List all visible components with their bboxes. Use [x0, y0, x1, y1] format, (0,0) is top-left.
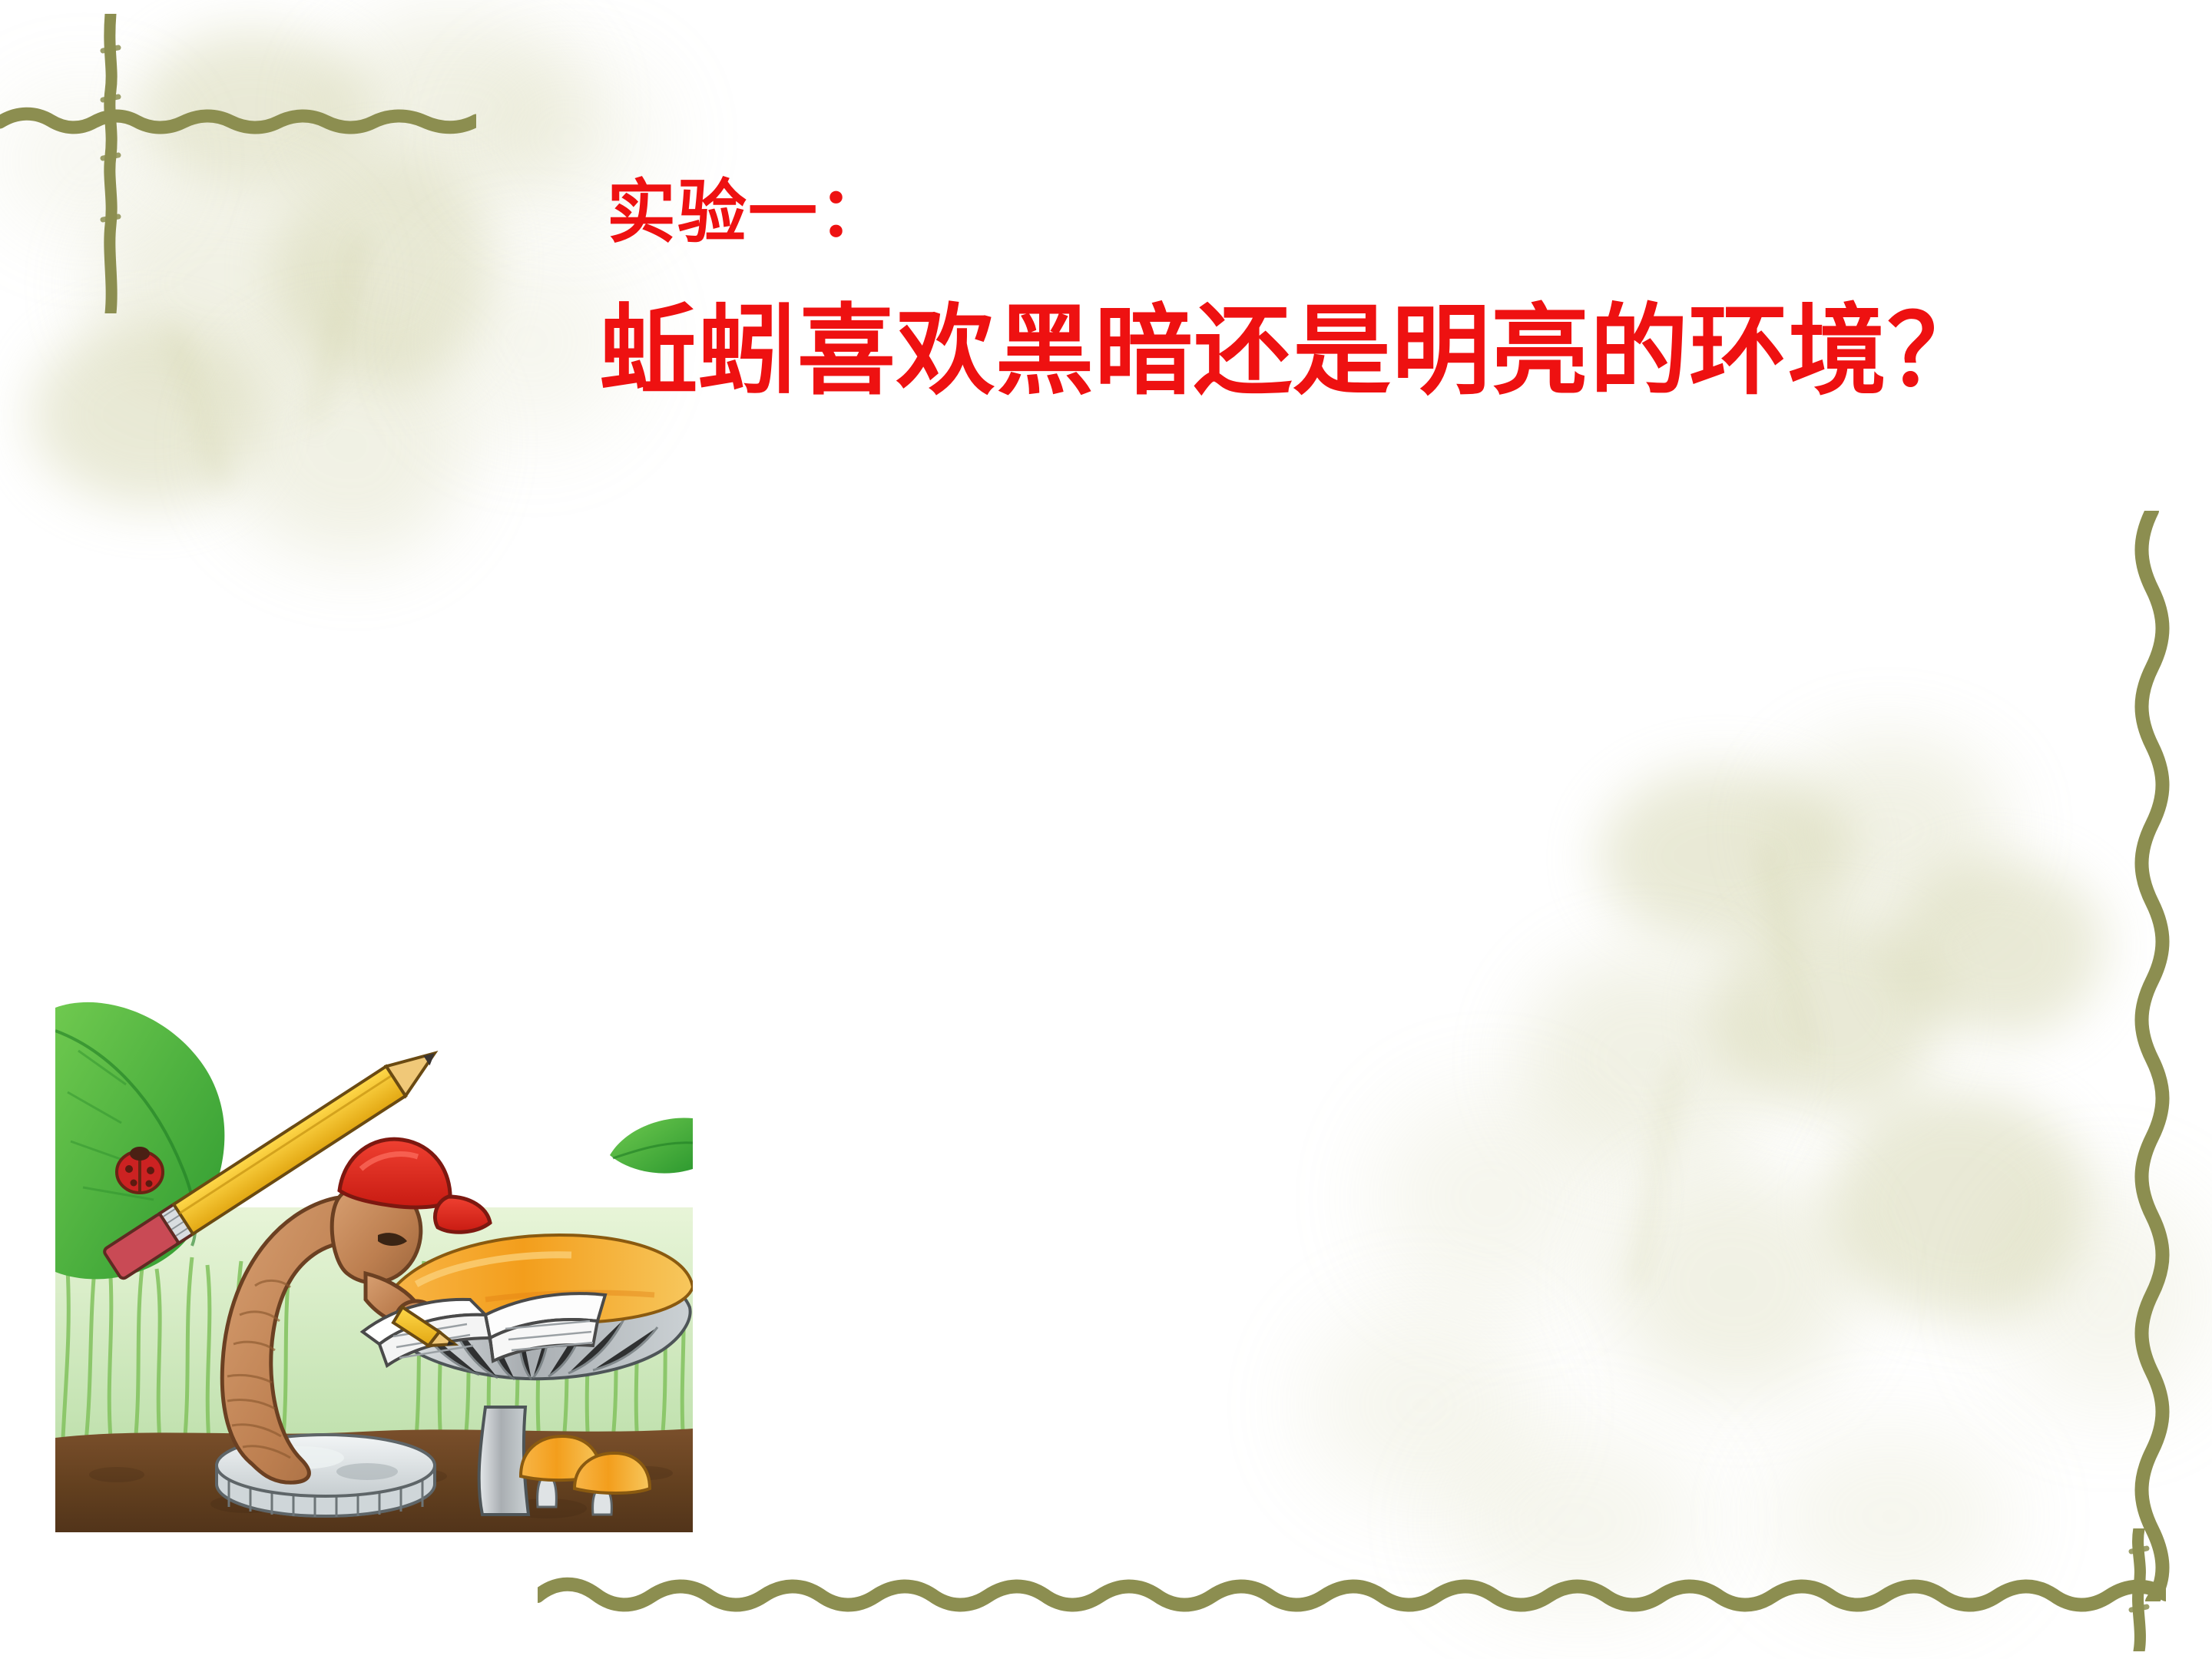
watermark-leaf	[1306, 1306, 1536, 1505]
watermark-stem	[306, 232, 366, 429]
watermark-stem	[1631, 1061, 1682, 1290]
slide-title-block: 实验一： 蚯蚓喜欢黑暗还是明亮的环境？	[607, 177, 2066, 403]
watermark-leaf	[31, 323, 261, 507]
watermark-leaf	[1598, 768, 1851, 945]
top-vine-border	[0, 104, 476, 139]
experiment-question: 蚯蚓喜欢黑暗还是明亮的环境？	[599, 300, 2066, 403]
watermark-leaf	[1997, 1183, 2212, 1413]
watermark-leaf	[1605, 1167, 1859, 1398]
watermark-leaf	[1774, 737, 2005, 922]
watermark-leaf	[1521, 952, 1767, 1167]
watermark-leaf	[1889, 860, 2104, 1037]
watermark-leaf	[1828, 1091, 2089, 1321]
experiment-heading: 实验一：	[607, 177, 2066, 250]
watermark-stem	[166, 325, 228, 489]
bottom-right-bamboo-stick	[2121, 1528, 2157, 1651]
watermark-leaf	[1713, 914, 1943, 1114]
earthworm-illustration	[55, 977, 693, 1532]
presentation-slide: 实验一： 蚯蚓喜欢黑暗还是明亮的环境？	[0, 0, 2212, 1659]
right-vine-border	[2132, 511, 2172, 1601]
watermark-leaf	[276, 154, 492, 384]
bottom-vine-border	[538, 1575, 2166, 1618]
watermark-leaf	[1375, 1091, 1605, 1306]
watermark-leaf	[223, 330, 469, 561]
watermark-stem	[1760, 846, 1815, 1059]
watermark-leaf	[92, 184, 346, 384]
top-left-bamboo-stick	[92, 14, 127, 313]
